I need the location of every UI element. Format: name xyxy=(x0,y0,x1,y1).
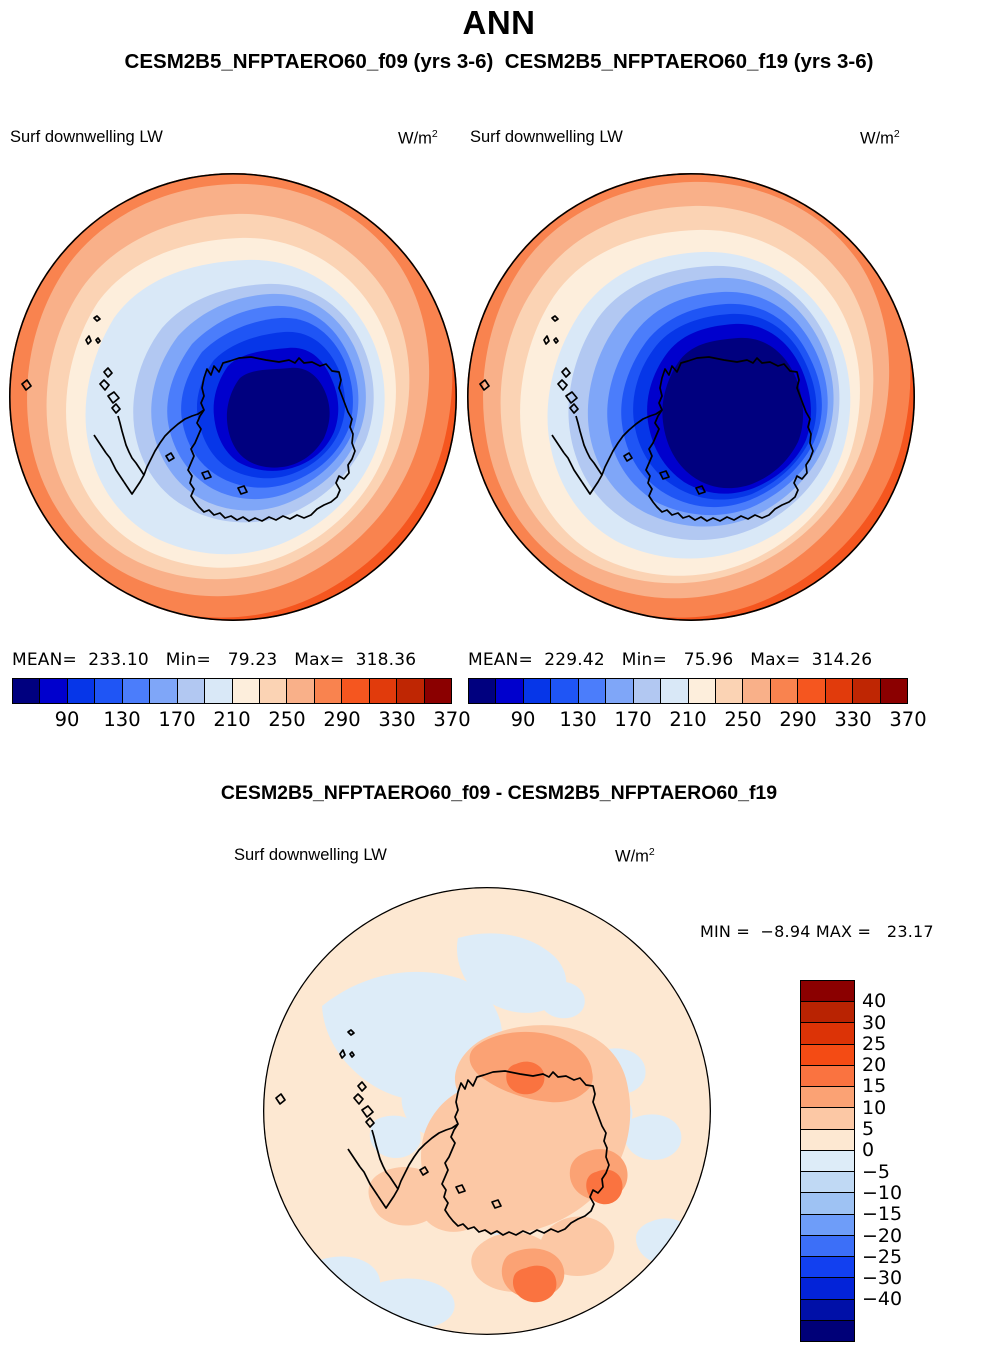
colorbar-cell xyxy=(801,1151,854,1172)
colorbar-cell xyxy=(801,1172,854,1193)
colorbar-tick-label: 170 xyxy=(158,708,195,731)
colorbar-cell xyxy=(661,679,688,703)
colorbar-cell xyxy=(13,679,40,703)
panel-a-variable-label: Surf downwelling LW xyxy=(10,128,163,147)
colorbar-cell xyxy=(743,679,770,703)
colorbar-cell xyxy=(801,1087,854,1108)
colorbar-cell xyxy=(801,981,854,1002)
colorbar-tick-label: 130 xyxy=(103,708,140,731)
colorbar-cell xyxy=(801,1023,854,1044)
colorbar-tick-label: 170 xyxy=(614,708,651,731)
colorbar-cell xyxy=(260,679,287,703)
colorbar-cell xyxy=(606,679,633,703)
units-exponent: 2 xyxy=(649,846,655,858)
panel-a-units-label: W/m2 xyxy=(398,128,438,149)
colorbar-cell xyxy=(425,679,451,703)
panel-b-colorbar-ticks: 90130170210250290330370 xyxy=(468,708,908,732)
units-exponent: 2 xyxy=(432,128,438,140)
colorbar-cell xyxy=(287,679,314,703)
colorbar-cell xyxy=(801,1215,854,1236)
colorbar-cell xyxy=(68,679,95,703)
polar-map-panel-a xyxy=(8,172,458,622)
colorbar-tick-label: 250 xyxy=(724,708,761,731)
colorbar-tick-label: 25 xyxy=(862,1033,886,1055)
colorbar-cell xyxy=(801,1002,854,1023)
panel-b-stats: MEAN= 229.42 Min= 75.96 Max= 314.26 xyxy=(468,650,872,670)
colorbar-cell xyxy=(801,1193,854,1214)
colorbar-cell xyxy=(826,679,853,703)
colorbar-cell xyxy=(315,679,342,703)
colorbar-tick-label: 15 xyxy=(862,1075,886,1097)
colorbar-tick-label: 90 xyxy=(55,708,80,731)
polar-map-panel-b xyxy=(466,172,916,622)
difference-colorbar-ticks: 40302520151050−5−10−15−20−25−30−40 xyxy=(862,980,932,1342)
panel-a-stats: MEAN= 233.10 Min= 79.23 Max= 318.36 xyxy=(12,650,416,670)
colorbar-cell xyxy=(469,679,496,703)
colorbar-tick-label: 210 xyxy=(669,708,706,731)
colorbar-cell xyxy=(205,679,232,703)
units-text: W/m xyxy=(860,130,894,148)
colorbar-tick-label: 370 xyxy=(889,708,926,731)
difference-colorbar xyxy=(800,980,855,1342)
colorbar-cell xyxy=(95,679,122,703)
panel-diff-stats: MIN = −8.94 MAX = 23.17 xyxy=(700,922,934,941)
colorbar-cell xyxy=(881,679,907,703)
colorbar-cell xyxy=(771,679,798,703)
colorbar-cell xyxy=(798,679,825,703)
colorbar-tick-label: −25 xyxy=(862,1246,902,1268)
panel-a-colorbar-ticks: 90130170210250290330370 xyxy=(12,708,452,732)
colorbar-tick-label: 290 xyxy=(779,708,816,731)
colorbar-cell xyxy=(801,1130,854,1151)
colorbar-tick-label: 40 xyxy=(862,990,886,1012)
difference-panel-title: CESM2B5_NFPTAERO60_f09 - CESM2B5_NFPTAER… xyxy=(0,782,998,805)
panel-b-title: CESM2B5_NFPTAERO60_f19 (yrs 3-6) xyxy=(505,50,874,73)
colorbar-tick-label: 0 xyxy=(862,1139,874,1161)
colorbar-cell xyxy=(524,679,551,703)
colorbar-tick-label: −15 xyxy=(862,1203,902,1225)
colorbar-cell xyxy=(801,1045,854,1066)
colorbar-cell xyxy=(233,679,260,703)
colorbar-tick-label: 290 xyxy=(323,708,360,731)
colorbar-cell xyxy=(579,679,606,703)
colorbar-cell xyxy=(853,679,880,703)
units-text: W/m xyxy=(615,848,649,866)
colorbar-cell xyxy=(123,679,150,703)
colorbar-tick-label: −5 xyxy=(862,1161,890,1183)
panel-title-separator xyxy=(493,50,504,73)
colorbar-tick-label: 130 xyxy=(559,708,596,731)
colorbar-cell xyxy=(634,679,661,703)
colorbar-cell xyxy=(801,1108,854,1129)
panel-a-colorbar xyxy=(12,678,452,704)
colorbar-cell xyxy=(801,1321,854,1341)
colorbar-cell xyxy=(370,679,397,703)
colorbar-cell xyxy=(801,1236,854,1257)
colorbar-tick-label: −30 xyxy=(862,1267,902,1289)
colorbar-tick-label: 250 xyxy=(268,708,305,731)
colorbar-tick-label: 330 xyxy=(378,708,415,731)
colorbar-cell xyxy=(551,679,578,703)
panel-diff-variable-label: Surf downwelling LW xyxy=(234,846,387,865)
colorbar-tick-label: 210 xyxy=(213,708,250,731)
colorbar-cell xyxy=(342,679,369,703)
panel-b-units-label: W/m2 xyxy=(860,128,900,149)
colorbar-cell xyxy=(178,679,205,703)
colorbar-cell xyxy=(150,679,177,703)
colorbar-cell xyxy=(716,679,743,703)
colorbar-cell xyxy=(801,1257,854,1278)
colorbar-cell xyxy=(801,1300,854,1321)
panel-diff-units-label: W/m2 xyxy=(615,846,655,867)
page-title: ANN xyxy=(0,4,998,42)
colorbar-tick-label: −20 xyxy=(862,1225,902,1247)
colorbar-tick-label: 20 xyxy=(862,1054,886,1076)
colorbar-tick-label: −40 xyxy=(862,1288,902,1310)
panel-b-colorbar xyxy=(468,678,908,704)
colorbar-cell xyxy=(689,679,716,703)
colorbar-cell xyxy=(801,1066,854,1087)
panel-titles-row: CESM2B5_NFPTAERO60_f09 (yrs 3-6) CESM2B5… xyxy=(0,50,998,74)
colorbar-cell xyxy=(40,679,67,703)
colorbar-cell xyxy=(801,1278,854,1299)
colorbar-tick-label: 90 xyxy=(511,708,536,731)
colorbar-cell xyxy=(496,679,523,703)
colorbar-tick-label: 5 xyxy=(862,1118,874,1140)
colorbar-tick-label: 30 xyxy=(862,1012,886,1034)
units-exponent: 2 xyxy=(894,128,900,140)
colorbar-cell xyxy=(397,679,424,703)
colorbar-tick-label: −10 xyxy=(862,1182,902,1204)
colorbar-tick-label: 10 xyxy=(862,1097,886,1119)
units-text: W/m xyxy=(398,130,432,148)
colorbar-tick-label: 370 xyxy=(433,708,470,731)
panel-a-title: CESM2B5_NFPTAERO60_f09 (yrs 3-6) xyxy=(125,50,494,73)
polar-map-difference xyxy=(262,886,712,1336)
colorbar-tick-label: 330 xyxy=(834,708,871,731)
panel-b-variable-label: Surf downwelling LW xyxy=(470,128,623,147)
